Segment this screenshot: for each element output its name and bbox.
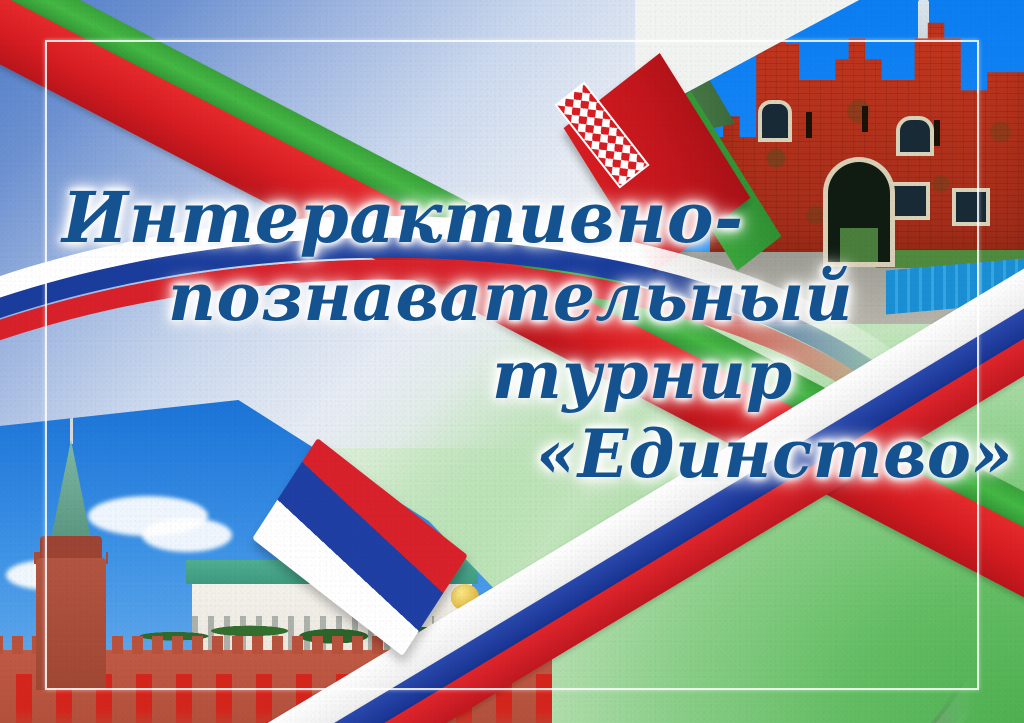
paper-grain-texture (0, 0, 1024, 723)
poster-canvas: Интерактивно- познавательный турнир «Еди… (0, 0, 1024, 723)
